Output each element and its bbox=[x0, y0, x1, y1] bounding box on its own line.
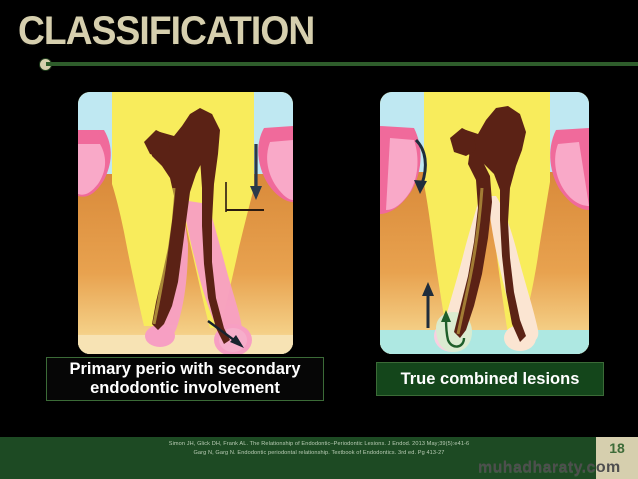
tooth-diagram-right bbox=[380, 92, 589, 354]
page-number: 18 bbox=[596, 440, 638, 456]
title-divider bbox=[0, 59, 638, 69]
caption-right: True combined lesions bbox=[376, 362, 604, 396]
caption-left: Primary perio with secondary endodontic … bbox=[46, 357, 324, 401]
divider-line bbox=[46, 62, 638, 66]
tooth-diagram-left bbox=[78, 92, 293, 354]
tooth-cross-section-left-svg bbox=[78, 92, 293, 354]
citation-block: Simon JH, Glick DH, Frank AL. The Relati… bbox=[0, 440, 638, 458]
slide-root: CLASSIFICATION bbox=[0, 0, 638, 479]
page-title: CLASSIFICATION bbox=[18, 9, 314, 53]
tooth-cross-section-right-svg bbox=[380, 92, 589, 354]
citation-line-1: Simon JH, Glick DH, Frank AL. The Relati… bbox=[0, 440, 638, 449]
watermark: muhadharaty.com bbox=[478, 459, 621, 477]
citation-line-2: Garg N, Garg N. Endodontic periodontal r… bbox=[0, 449, 638, 458]
